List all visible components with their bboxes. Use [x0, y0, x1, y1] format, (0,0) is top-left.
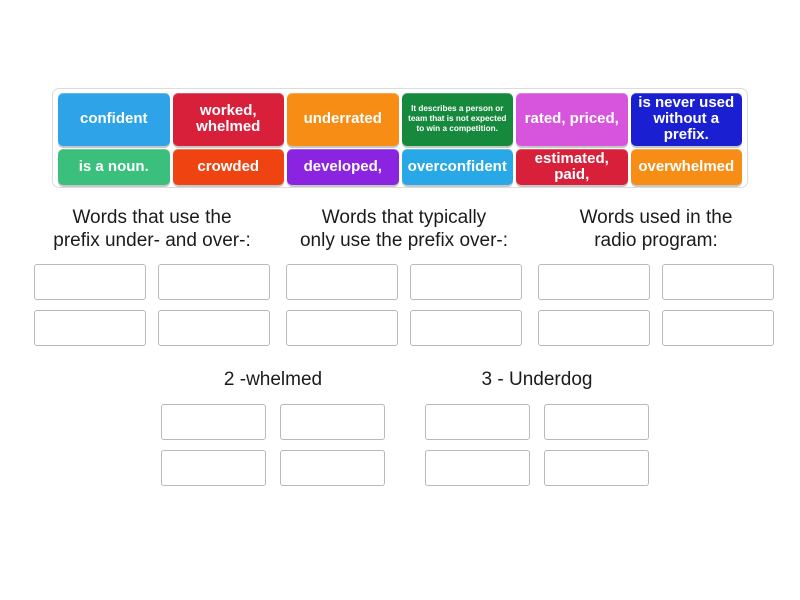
- word-tile-label: is a noun.: [79, 159, 149, 175]
- word-tile-label: estimated, paid,: [535, 151, 609, 183]
- word-tile[interactable]: estimated, paid,: [516, 149, 628, 185]
- word-tile[interactable]: confident: [58, 93, 170, 146]
- category-group-title: 3 - Underdog: [482, 368, 593, 391]
- dropzone[interactable]: [161, 404, 266, 440]
- dropzone-grid: [26, 264, 278, 346]
- dropzone[interactable]: [286, 310, 398, 346]
- dropzone[interactable]: [544, 450, 649, 486]
- category-group-3: Words used in the radio program:: [530, 206, 782, 346]
- dropzone[interactable]: [538, 310, 650, 346]
- category-group-1: Words that use the prefix under- and ove…: [26, 206, 278, 346]
- dropzone[interactable]: [425, 450, 530, 486]
- word-tile[interactable]: developed,: [287, 149, 399, 185]
- category-group-title: 2 -whelmed: [224, 368, 322, 391]
- word-tile[interactable]: rated, priced,: [516, 93, 628, 146]
- category-group-title: Words used in the radio program:: [580, 206, 733, 252]
- dropzone[interactable]: [425, 404, 530, 440]
- dropzone[interactable]: [34, 310, 146, 346]
- dropzone-grid: [278, 264, 530, 346]
- word-tile[interactable]: overwhelmed: [631, 149, 743, 185]
- dropzone-grid: [155, 404, 391, 486]
- dropzone-grid: [419, 404, 655, 486]
- dropzone[interactable]: [161, 450, 266, 486]
- tile-row-1: confident worked, whelmed underrated It …: [58, 93, 742, 146]
- word-tile-label: underrated: [304, 111, 382, 127]
- category-group-title: Words that use the prefix under- and ove…: [53, 206, 251, 252]
- word-tile[interactable]: crowded: [173, 149, 285, 185]
- word-tile[interactable]: overconfident: [402, 149, 514, 185]
- word-tile-tray: confident worked, whelmed underrated It …: [52, 88, 748, 188]
- word-tile[interactable]: is never used without a prefix.: [631, 93, 743, 146]
- word-tile-label: rated, priced,: [525, 111, 619, 127]
- category-groups-top: Words that use the prefix under- and ove…: [26, 206, 782, 346]
- dropzone[interactable]: [410, 264, 522, 300]
- word-tile-label: overconfident: [408, 159, 507, 175]
- dropzone[interactable]: [544, 404, 649, 440]
- dropzone[interactable]: [410, 310, 522, 346]
- category-group-4: 2 -whelmed: [155, 368, 391, 486]
- word-tile-label: worked, whelmed: [196, 103, 260, 135]
- word-tile-label: developed,: [304, 159, 382, 175]
- dropzone[interactable]: [280, 404, 385, 440]
- tile-row-2: is a noun. crowded developed, overconfid…: [58, 149, 742, 185]
- word-tile[interactable]: is a noun.: [58, 149, 170, 185]
- category-group-5: 3 - Underdog: [419, 368, 655, 486]
- word-tile[interactable]: It describes a person or team that is no…: [402, 93, 514, 146]
- dropzone[interactable]: [158, 264, 270, 300]
- word-tile[interactable]: underrated: [287, 93, 399, 146]
- dropzone[interactable]: [280, 450, 385, 486]
- word-tile-label: crowded: [197, 159, 259, 175]
- dropzone[interactable]: [662, 310, 774, 346]
- category-group-2: Words that typically only use the prefix…: [278, 206, 530, 346]
- category-group-title: Words that typically only use the prefix…: [300, 206, 508, 252]
- dropzone[interactable]: [538, 264, 650, 300]
- dropzone-grid: [530, 264, 782, 346]
- group-sort-activity: confident worked, whelmed underrated It …: [0, 0, 800, 600]
- word-tile-label: overwhelmed: [638, 159, 734, 175]
- dropzone[interactable]: [34, 264, 146, 300]
- word-tile[interactable]: worked, whelmed: [173, 93, 285, 146]
- category-groups-bottom: 2 -whelmed 3 - Underdog: [155, 368, 655, 486]
- word-tile-label: It describes a person or team that is no…: [406, 104, 510, 134]
- dropzone[interactable]: [158, 310, 270, 346]
- dropzone[interactable]: [286, 264, 398, 300]
- word-tile-label: is never used without a prefix.: [635, 95, 739, 144]
- word-tile-label: confident: [80, 111, 148, 127]
- dropzone[interactable]: [662, 264, 774, 300]
